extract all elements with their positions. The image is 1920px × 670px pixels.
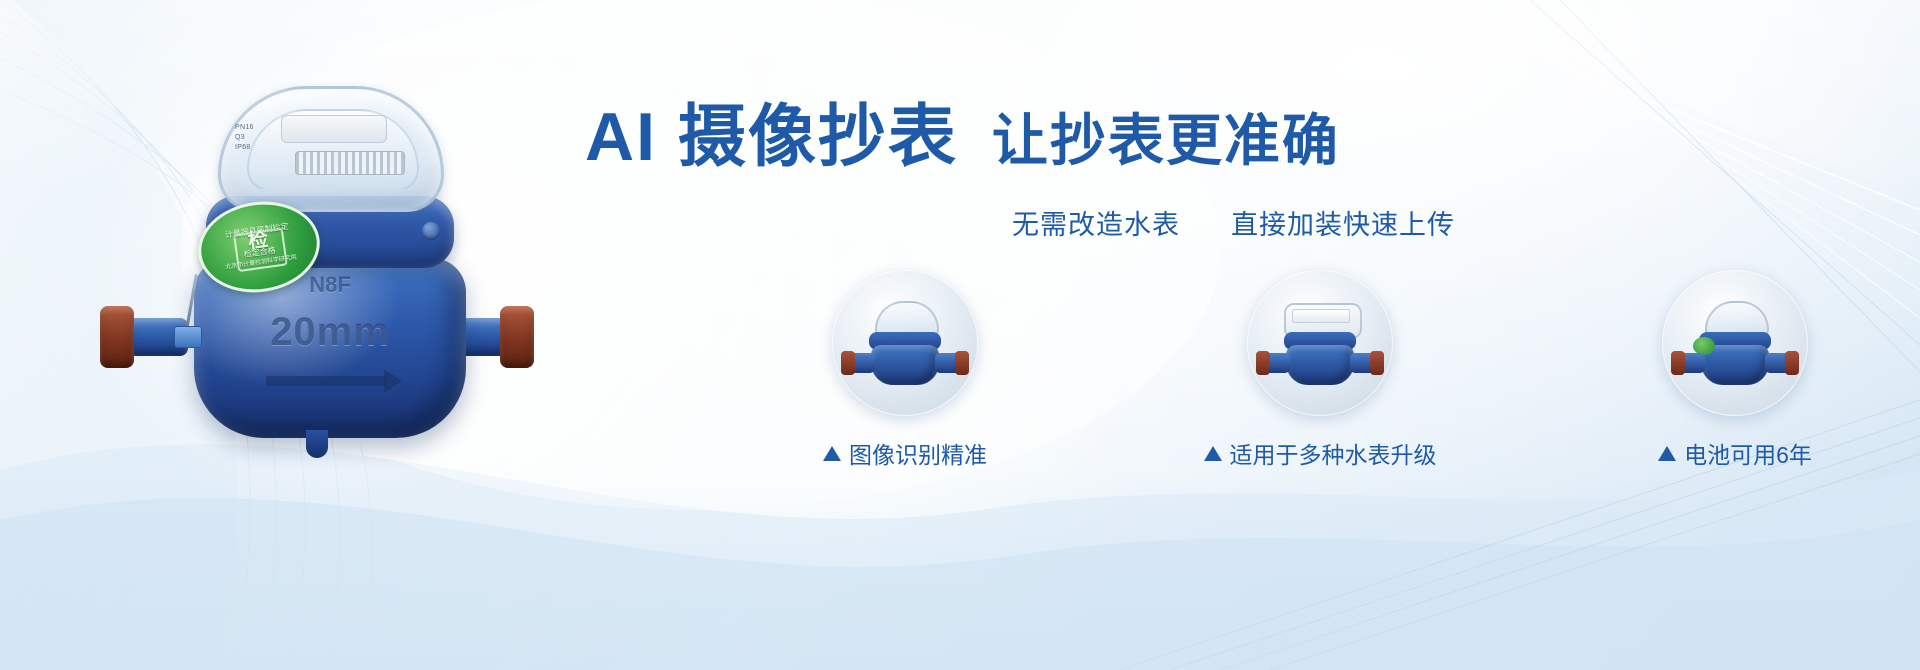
feature-caption: 图像识别精准	[823, 436, 987, 470]
triangle-marker-icon	[1204, 446, 1222, 461]
camera-dome-cover: PN16Q3IP68	[218, 86, 444, 212]
flow-direction-arrow-icon	[266, 376, 386, 386]
headline: AI 摄像抄表 让抄表更准确	[585, 103, 1340, 171]
dome-dial-band	[295, 151, 405, 175]
feature-label: 电池可用6年	[1684, 436, 1812, 470]
feature-label: 适用于多种水表升级	[1230, 436, 1437, 470]
feature-label: 图像识别精准	[849, 436, 987, 470]
size-emboss: 20mm	[194, 310, 466, 355]
subheadline: 无需改造水表 直接加装快速上传	[1012, 203, 1455, 242]
water-meter-thumbnail-1[interactable]	[832, 270, 978, 416]
subheadline-part-1: 无需改造水表	[1012, 210, 1180, 240]
hero-product-image: N8F 20mm PN16Q3IP68 计量器具强制检定 检 检定合格	[78, 78, 558, 508]
meter-drain-plug	[306, 430, 328, 458]
mini-nut-left	[1256, 351, 1270, 375]
marketing-banner: N8F 20mm PN16Q3IP68 计量器具强制检定 检 检定合格	[0, 0, 1920, 670]
feature-item[interactable]: 适用于多种水表升级	[1185, 270, 1455, 510]
mini-meter-illustration	[1671, 301, 1799, 385]
sticker-text: 计量器具强制检定 检 检定合格 北京市计量检测科学研究院	[196, 197, 323, 296]
triangle-marker-icon	[1658, 446, 1676, 461]
triangle-marker-icon	[823, 446, 841, 461]
mini-meter-illustration	[841, 301, 969, 385]
mini-nut-right	[1370, 351, 1384, 375]
mini-nut-left	[841, 351, 855, 375]
collar-bolt	[422, 222, 440, 240]
pipe-nut-right	[500, 306, 534, 368]
headline-main: AI 摄像抄表	[585, 103, 958, 171]
mini-display-label	[1292, 309, 1350, 323]
feature-caption: 适用于多种水表升级	[1204, 436, 1437, 470]
sealing-tag	[174, 326, 202, 348]
mini-nut-right	[1785, 351, 1799, 375]
water-meter-thumbnail-2[interactable]	[1247, 270, 1393, 416]
mini-nut-right	[955, 351, 969, 375]
pipe-nut-left	[100, 306, 134, 368]
mini-body	[1286, 345, 1354, 385]
feature-item[interactable]: 图像识别精准	[770, 270, 1040, 510]
subheadline-part-2: 直接加装快速上传	[1231, 210, 1455, 240]
mini-meter-illustration	[1256, 301, 1384, 385]
water-meter-thumbnail-3[interactable]	[1662, 270, 1808, 416]
mini-body	[871, 345, 939, 385]
feature-list: 图像识别精准 适用于多种水表升级	[770, 270, 1870, 510]
dome-spec-label: PN16Q3IP68	[235, 123, 297, 165]
feature-caption: 电池可用6年	[1658, 436, 1812, 470]
mini-nut-left	[1671, 351, 1685, 375]
water-meter-illustration: N8F 20mm PN16Q3IP68 计量器具强制检定 检 检定合格	[78, 78, 558, 508]
feature-item[interactable]: 电池可用6年	[1600, 270, 1870, 510]
headline-secondary: 让抄表更准确	[992, 113, 1340, 169]
